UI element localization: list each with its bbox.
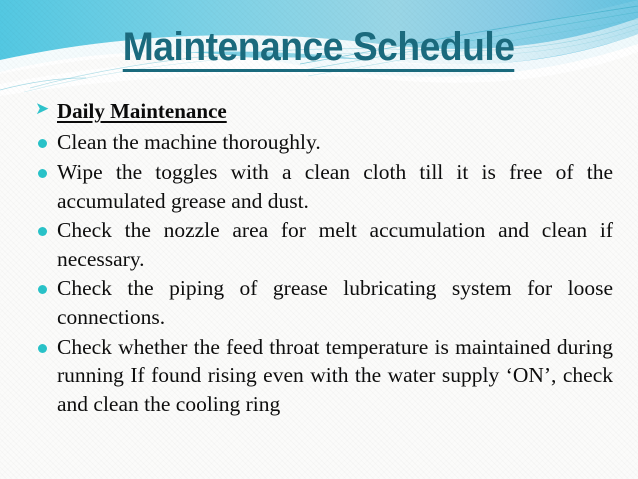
list-item: Check whether the feed throat temperatur…	[28, 333, 613, 419]
round-bullet-icon	[38, 344, 47, 353]
list-item: Check the piping of grease lubricating s…	[28, 274, 613, 331]
round-bullet-icon	[38, 169, 47, 178]
section-heading: Daily Maintenance	[57, 96, 227, 126]
round-bullet-icon	[38, 227, 47, 236]
list-item-text: Clean the machine thoroughly.	[57, 128, 613, 157]
arrow-bullet-icon: ➤	[35, 100, 49, 117]
list-item: Wipe the toggles with a clean cloth till…	[28, 158, 613, 215]
list-item: Check the nozzle area for melt accumulat…	[28, 216, 613, 273]
list-item-text: Check the nozzle area for melt accumulat…	[57, 216, 613, 273]
page-title: Maintenance Schedule	[123, 26, 515, 72]
list-item-text: Check the piping of grease lubricating s…	[57, 274, 613, 331]
round-bullet-icon	[38, 285, 47, 294]
list-item-text: Wipe the toggles with a clean cloth till…	[57, 158, 613, 215]
list-item: Clean the machine thoroughly.	[28, 128, 613, 157]
slide-content: ➤ Daily Maintenance Clean the machine th…	[28, 96, 613, 419]
list-item-text: Check whether the feed throat temperatur…	[57, 333, 613, 419]
list-item-heading: ➤ Daily Maintenance	[28, 96, 613, 126]
round-bullet-icon	[38, 139, 47, 148]
page-title-container: Maintenance Schedule	[0, 26, 638, 72]
presentation-slide: Maintenance Schedule ➤ Daily Maintenance…	[0, 0, 638, 479]
